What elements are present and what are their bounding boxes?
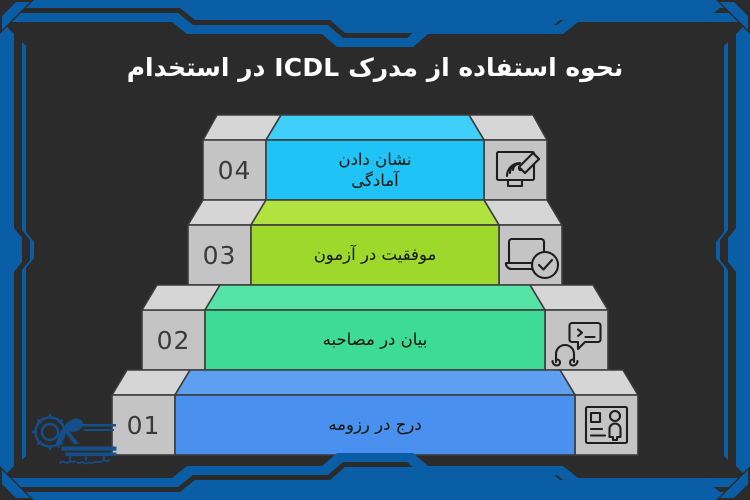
step-02-bar	[205, 310, 545, 370]
logo-tagline	[60, 456, 109, 464]
frame-top-outer	[0, 0, 750, 35]
frame-corner-tr	[716, 0, 750, 34]
step-04-icon-box	[484, 140, 547, 200]
pyramid-step-03[interactable]	[188, 200, 562, 285]
step-01-bar	[175, 395, 575, 455]
frame-corner-accent-tr	[720, 2, 748, 30]
pyramid-step-02[interactable]	[142, 285, 608, 370]
step-03-number-box	[188, 225, 251, 285]
logo-wordmark	[80, 424, 116, 431]
frame-top-gap	[0, 8, 750, 39]
step-03-bar-bevel	[251, 200, 499, 225]
step-03-bar	[251, 225, 499, 285]
step-02-number-box	[142, 310, 205, 370]
brand-watermark	[26, 398, 130, 472]
frame-corner-accent-tl	[2, 2, 30, 30]
frame-top	[0, 0, 750, 47]
frame-corner-accent-bl	[2, 470, 30, 498]
frame-corner-tl	[0, 0, 34, 34]
page-title: نحوه استفاده از مدرک ICDL در استخدام	[0, 52, 750, 83]
logo-bar-1	[62, 447, 116, 450]
step-04-bar-bevel	[266, 115, 484, 140]
step-01-icon-box	[575, 395, 638, 455]
pyramid-step-01[interactable]	[112, 370, 638, 455]
infographic-canvas: 04 03 02 01 نشان دادن آمادگی موفقیت در آ…	[0, 0, 750, 500]
step-04-number-box	[203, 140, 266, 200]
frame-corner-accent-br	[720, 470, 748, 498]
step-02-bar-bevel	[205, 285, 545, 310]
step-04-bar	[266, 140, 484, 200]
frame-corner-br	[716, 466, 750, 500]
frame-top-inner	[0, 13, 407, 47]
pyramid-step-04[interactable]	[203, 115, 547, 200]
logo-bar-2	[66, 453, 116, 456]
step-01-bar-bevel	[175, 370, 575, 395]
frame-top-inner-right	[407, 13, 750, 47]
